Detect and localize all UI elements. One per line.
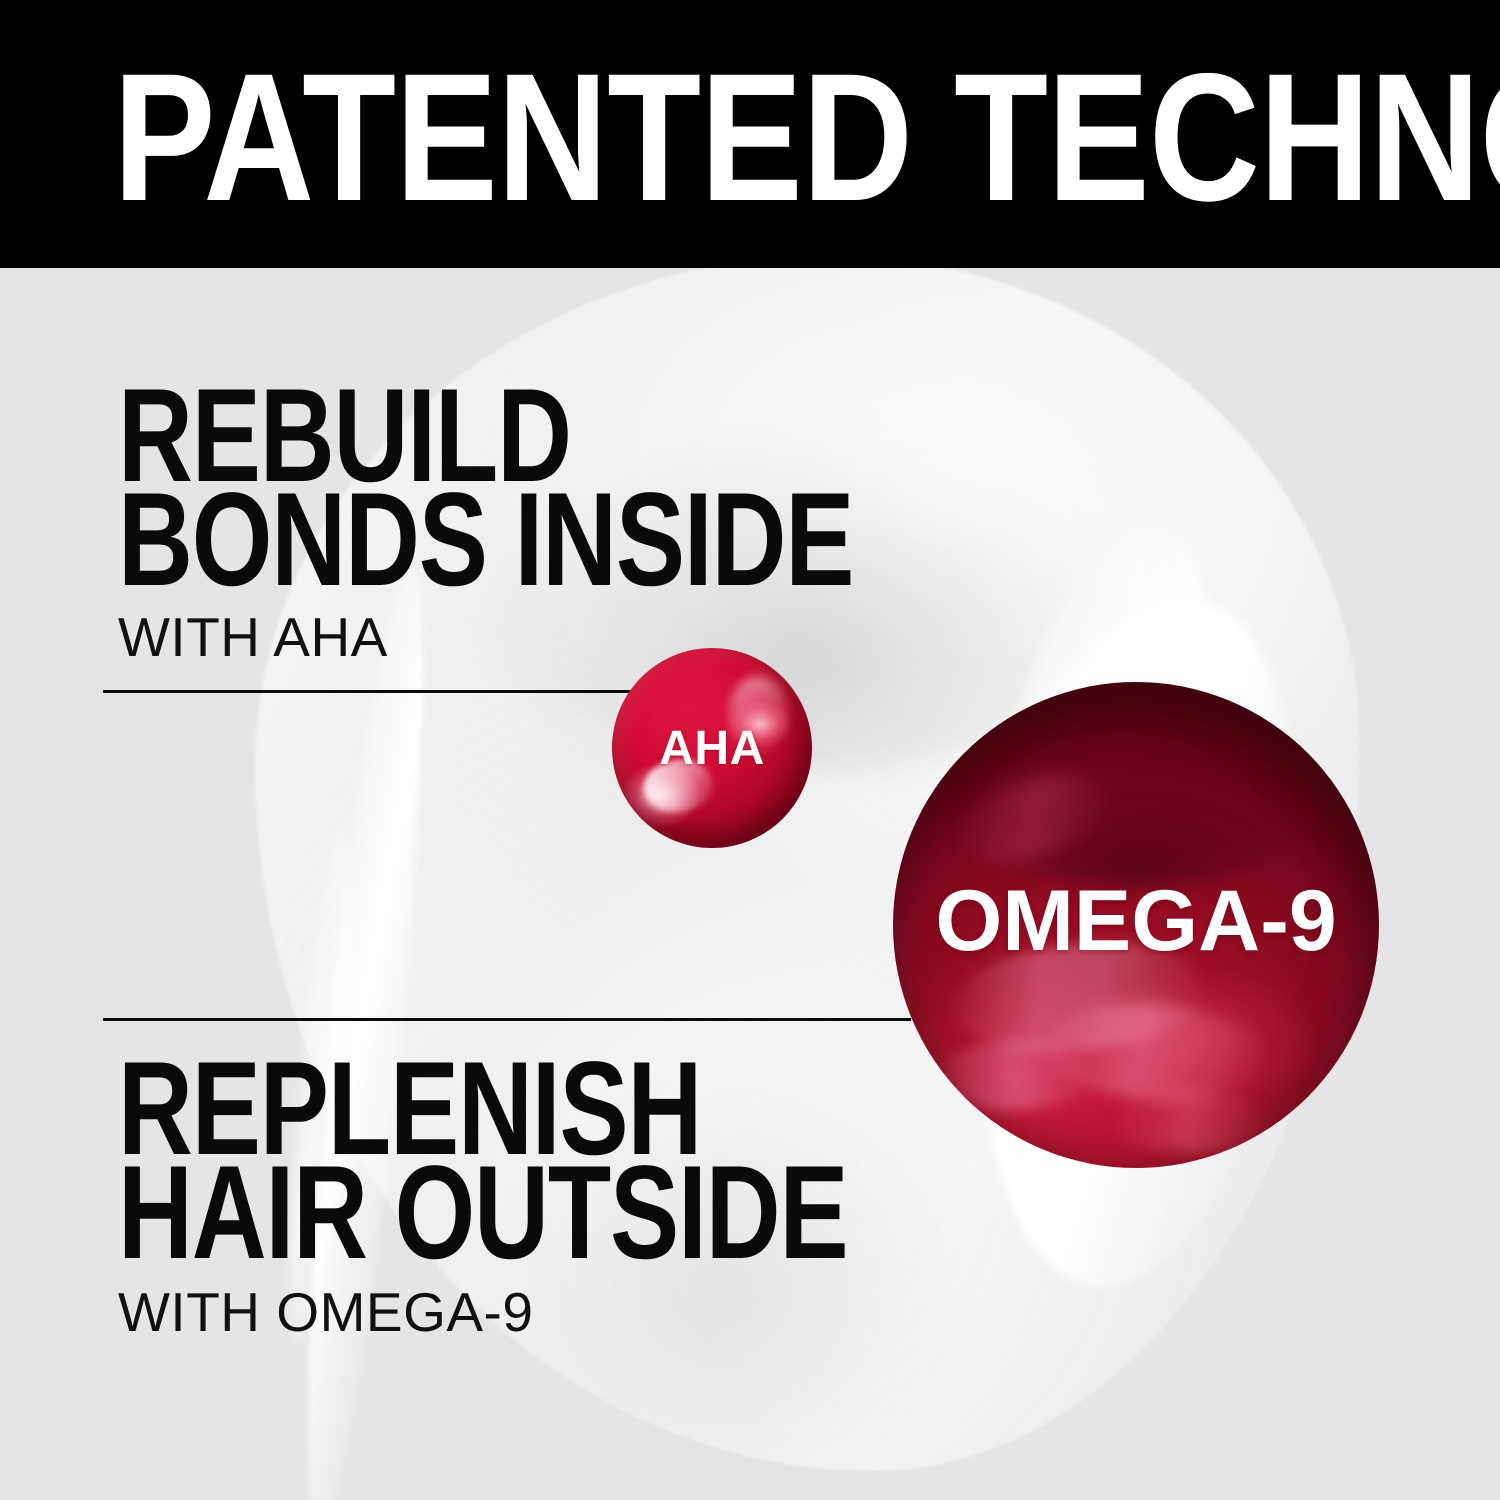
promo-graphic: PATENTED TECHNOLOGY AHA OMEGA-9 REBUILD … bbox=[0, 0, 1500, 1500]
feature-heading-line-2: HAIR OUTSIDE bbox=[118, 1161, 847, 1265]
aha-sphere-label: AHA bbox=[612, 648, 812, 848]
aha-ingredient-sphere: AHA bbox=[612, 648, 812, 848]
header-banner: PATENTED TECHNOLOGY bbox=[0, 0, 1500, 268]
page-title: PATENTED TECHNOLOGY bbox=[113, 46, 1500, 228]
leader-line-aha bbox=[103, 690, 631, 693]
feature-subtitle: WITH AHA bbox=[118, 608, 1061, 666]
feature-subtitle: WITH OMEGA-9 bbox=[118, 1283, 1053, 1341]
feature-heading-line-2: BONDS INSIDE bbox=[118, 488, 853, 592]
leader-line-omega bbox=[103, 1018, 911, 1021]
feature-block-rebuild: REBUILD BONDS INSIDE WITH AHA bbox=[118, 384, 1061, 666]
feature-block-replenish: REPLENISH HAIR OUTSIDE WITH OMEGA-9 bbox=[118, 1057, 1053, 1341]
